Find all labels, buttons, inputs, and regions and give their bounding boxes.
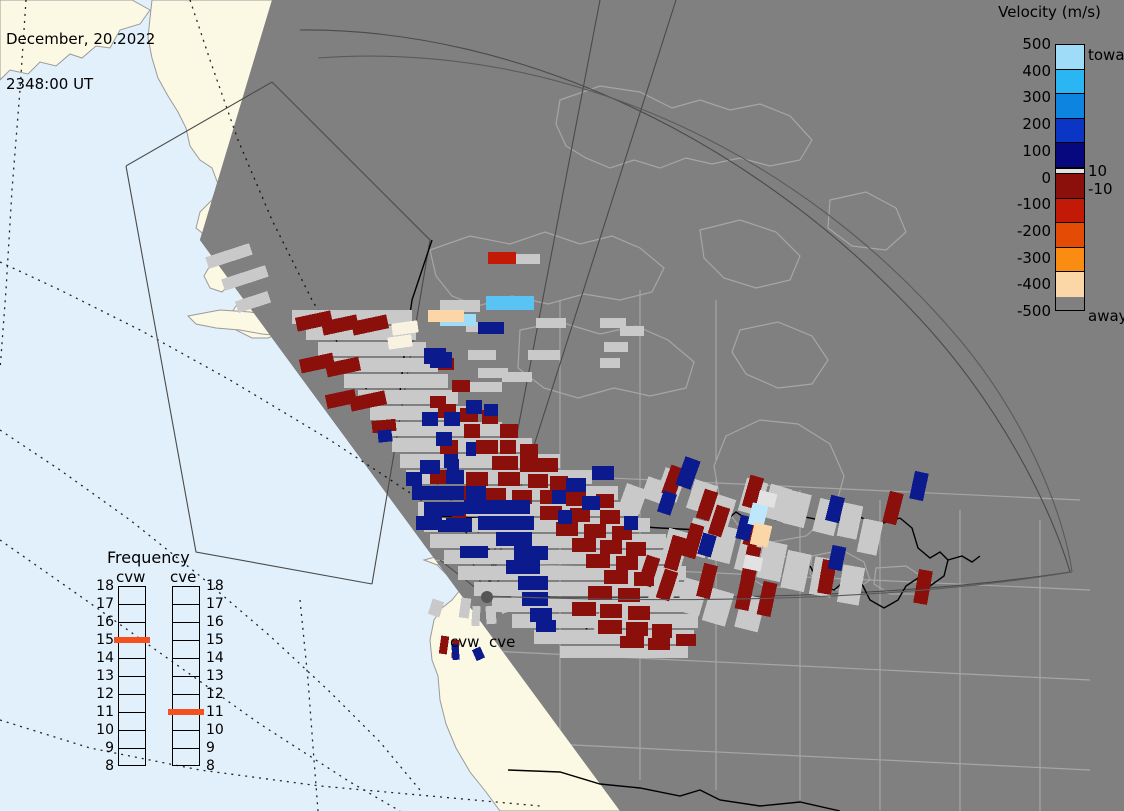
colorbar-side-labels: toward10-10away — [1088, 30, 1124, 325]
title-date: December, 20.2022 — [6, 32, 155, 47]
frequency-tick-14: 14 — [206, 651, 224, 665]
frequency-tick-16: 16 — [206, 615, 224, 629]
frequency-cell — [119, 659, 145, 677]
frequency-tick-10: 10 — [92, 723, 114, 737]
frequency-scale-cvw — [118, 586, 146, 766]
frequency-cell — [173, 605, 199, 623]
colorbar-tick--100: -100 — [1017, 197, 1051, 212]
colorbar-tick--400: -400 — [1017, 277, 1051, 292]
title-time: 2348:00 UT — [6, 77, 155, 92]
frequency-tick-15: 15 — [206, 633, 224, 647]
frequency-tick-12: 12 — [92, 687, 114, 701]
colorbar-segment-9 — [1056, 248, 1084, 273]
colorbar-segment-0 — [1056, 45, 1084, 70]
frequency-tick-16: 16 — [92, 615, 114, 629]
colorbar-tick-labels: 5004003002001000-100-200-300-400-500 — [995, 30, 1051, 325]
colorbar-tick-400: 400 — [1022, 64, 1051, 79]
frequency-scale-cve — [172, 586, 200, 766]
frequency-cell — [119, 731, 145, 749]
colorbar-label-10: 10 — [1088, 164, 1107, 179]
frequency-cell — [119, 749, 145, 767]
frequency-tick-9: 9 — [206, 741, 215, 755]
colorbar-tick--200: -200 — [1017, 224, 1051, 239]
frequency-cell — [173, 713, 199, 731]
frequency-cell — [119, 695, 145, 713]
frequency-cell — [119, 587, 145, 605]
frequency-cell — [119, 605, 145, 623]
colorbar-segment-8 — [1056, 223, 1084, 248]
frequency-marker-cvw — [114, 637, 150, 643]
colorbar-segment-2 — [1056, 94, 1084, 119]
radar-station-markers — [481, 591, 493, 603]
frequency-tick-18: 18 — [206, 579, 224, 593]
colorbar-label-toward: toward — [1088, 48, 1124, 63]
frequency-cell — [173, 587, 199, 605]
colorbar-tick-0: 0 — [1041, 171, 1051, 186]
timestamp-title: December, 20.2022 2348:00 UT — [6, 2, 155, 122]
frequency-radar-name-cvw: cvw — [116, 568, 145, 586]
frequency-tick-12: 12 — [206, 687, 224, 701]
frequency-tick-11: 11 — [92, 705, 114, 719]
colorbar-gradient — [1055, 44, 1085, 311]
frequency-marker-cve — [168, 709, 204, 715]
frequency-axis-cvw: 18171615141312111098 — [90, 586, 114, 766]
frequency-cell — [119, 641, 145, 659]
frequency-title: Frequency — [107, 548, 190, 567]
frequency-cell — [173, 659, 199, 677]
colorbar-segment-4 — [1056, 143, 1084, 168]
frequency-cell — [119, 713, 145, 731]
frequency-cell — [173, 677, 199, 695]
frequency-cell — [173, 731, 199, 749]
frequency-cell — [173, 641, 199, 659]
frequency-axis-cve: 18171615141312111098 — [206, 586, 230, 766]
colorbar-label-away: away — [1088, 309, 1124, 324]
colorbar-segment-6 — [1056, 174, 1084, 199]
colorbar-tick--500: -500 — [1017, 304, 1051, 319]
frequency-tick-18: 18 — [92, 579, 114, 593]
frequency-tick-13: 13 — [206, 669, 224, 683]
colorbar-title: Velocity (m/s) — [975, 3, 1124, 21]
colorbar-label-minus10: -10 — [1088, 182, 1113, 197]
frequency-tick-17: 17 — [92, 597, 114, 611]
colorbar-tick-300: 300 — [1022, 90, 1051, 105]
station-label-cvw: cvw — [450, 633, 479, 651]
radar-fan-plot: December, 20.2022 2348:00 UT Velocity (m… — [0, 0, 1124, 811]
frequency-tick-9: 9 — [92, 741, 114, 755]
colorbar-tick--300: -300 — [1017, 251, 1051, 266]
colorbar-segment-1 — [1056, 70, 1084, 95]
frequency-cell — [119, 677, 145, 695]
colorbar-tick-200: 200 — [1022, 117, 1051, 132]
frequency-tick-15: 15 — [92, 633, 114, 647]
frequency-tick-14: 14 — [92, 651, 114, 665]
colorbar-tick-500: 500 — [1022, 37, 1051, 52]
colorbar-segment-3 — [1056, 119, 1084, 144]
frequency-tick-13: 13 — [92, 669, 114, 683]
frequency-tick-17: 17 — [206, 597, 224, 611]
frequency-tick-11: 11 — [206, 705, 224, 719]
frequency-tick-10: 10 — [206, 723, 224, 737]
frequency-tick-8: 8 — [92, 759, 114, 773]
frequency-radar-name-cve: cve — [170, 568, 196, 586]
frequency-cell — [173, 623, 199, 641]
frequency-tick-8: 8 — [206, 759, 215, 773]
colorbar-segment-7 — [1056, 199, 1084, 224]
colorbar-segment-10 — [1056, 272, 1084, 297]
frequency-legend: Frequency cvw18171615141312111098cve1817… — [85, 548, 245, 783]
station-label-cve: cve — [489, 633, 515, 651]
frequency-cell — [173, 749, 199, 767]
colorbar-tick-100: 100 — [1022, 144, 1051, 159]
